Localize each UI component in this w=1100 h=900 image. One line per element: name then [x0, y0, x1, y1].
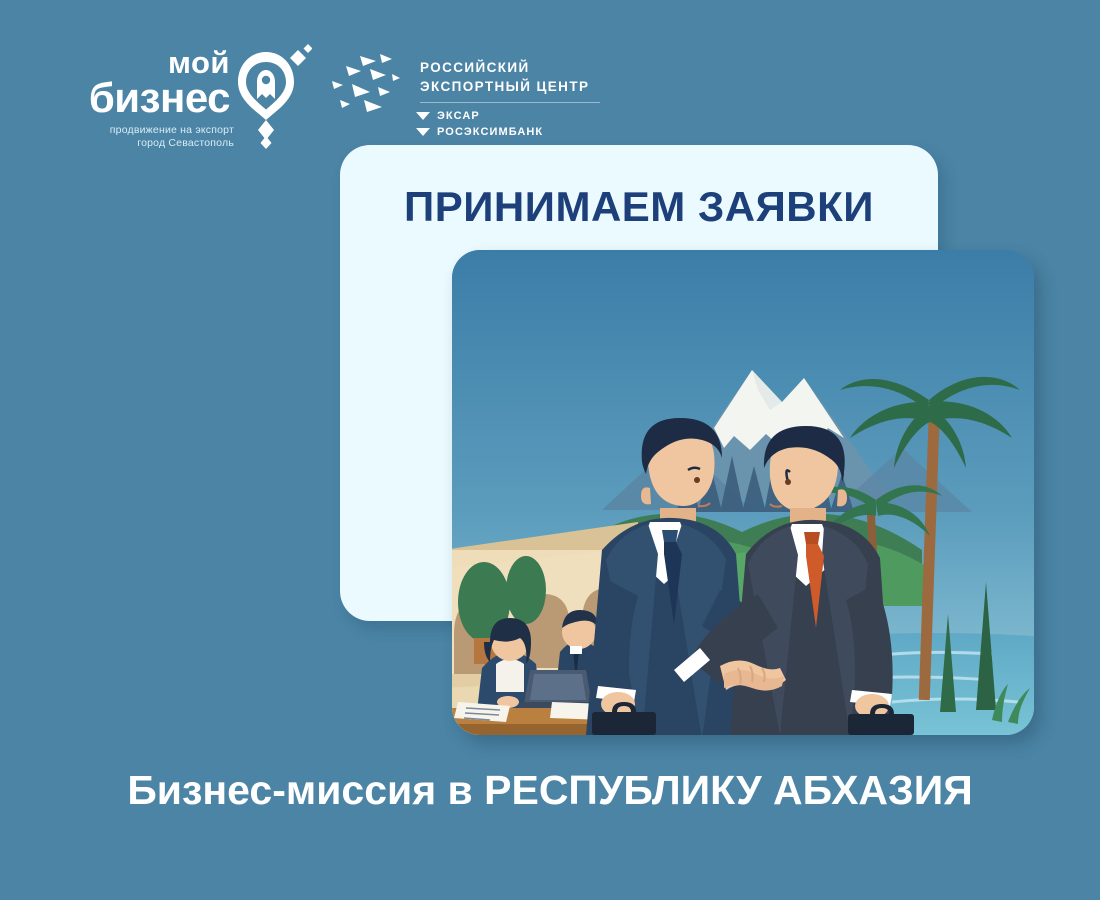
headline-business-mission: Бизнес-миссия в РЕСПУБЛИКУ АБХАЗИЯ: [0, 765, 1100, 815]
logo-row: мой бизнес продвижение на экспорт город …: [0, 28, 1100, 148]
my-business-logo: мой бизнес продвижение на экспорт город …: [80, 48, 320, 163]
headline-bottom-lead: Бизнес-миссия в: [127, 767, 484, 813]
poster-root: мой бизнес продвижение на экспорт город …: [0, 0, 1100, 900]
map-pin-rocket-icon: [232, 44, 312, 149]
russian-export-center-logo: РОССИЙСКИЙ ЭКСПОРТНЫЙ ЦЕНТР ЭКСАР РОСЭКС…: [330, 42, 610, 152]
rec-title-line2: ЭКСПОРТНЫЙ ЦЕНТР: [420, 77, 589, 96]
rec-subsidiary-exiar: ЭКСАР: [416, 110, 543, 122]
my-business-tagline-line1: продвижение на экспорт: [74, 124, 234, 137]
my-business-tagline-line2: город Севастополь: [74, 137, 234, 150]
rec-subsidiary-label: ЭКСАР: [437, 110, 480, 122]
rec-subsidiary-roseximbank: РОСЭКСИМБАНК: [416, 126, 543, 138]
rec-title-line1: РОССИЙСКИЙ: [420, 58, 589, 77]
my-business-wordmark: мой бизнес: [80, 48, 230, 118]
rec-divider: [420, 102, 600, 103]
paper-planes-icon: [330, 54, 410, 116]
my-business-word-bottom: бизнес: [80, 78, 230, 118]
business-handshake-abkhazia-illustration: [452, 250, 1034, 735]
my-business-tagline: продвижение на экспорт город Севастополь: [74, 124, 234, 150]
rec-subsidiary-label: РОСЭКСИМБАНК: [437, 126, 543, 138]
headline-bottom-emphasis: РЕСПУБЛИКУ АБХАЗИЯ: [484, 767, 973, 813]
rec-subsidiaries: ЭКСАР РОСЭКСИМБАНК: [416, 110, 543, 142]
triangle-down-icon: [416, 128, 430, 136]
rec-title: РОССИЙСКИЙ ЭКСПОРТНЫЙ ЦЕНТР: [420, 58, 589, 96]
triangle-down-icon: [416, 112, 430, 120]
headline-accepting-applications: ПРИНИМАЕМ ЗАЯВКИ: [340, 183, 938, 231]
